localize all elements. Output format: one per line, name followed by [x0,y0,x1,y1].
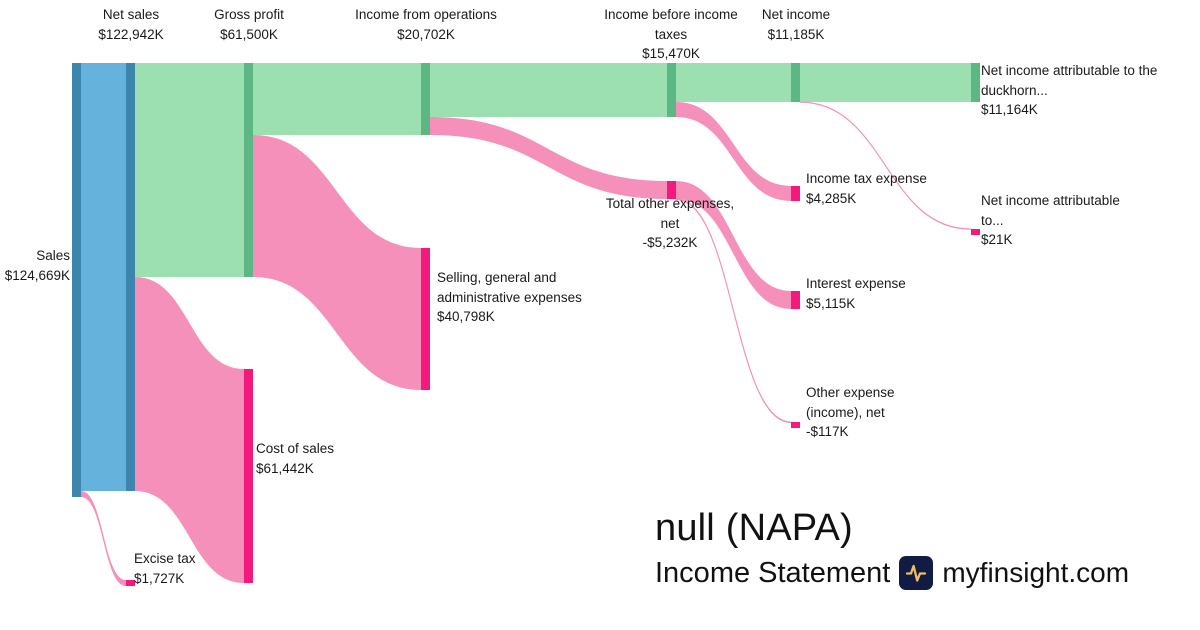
brand-name: myfinsight.com [942,556,1129,590]
chart-footer: null (NAPA) Income Statement myfinsight.… [655,505,1175,591]
sankey-node-other_expense[interactable] [791,422,800,428]
sankey-node-ni_duckhorn[interactable] [971,63,980,102]
sankey-link-gross_profit-income_from_ops [253,63,421,135]
sankey-node-interest_expense[interactable] [791,291,800,309]
sankey-node-sales[interactable] [72,63,81,497]
sankey-link-net_sales-cost_of_sales [135,277,244,583]
pulse-wave-icon [899,556,933,590]
chart-statement-subtitle: Income Statement [655,555,890,591]
sankey-node-excise_tax[interactable] [126,580,135,586]
sankey-link-ifo-total_other_expenses [430,117,667,199]
sankey-link-net_income-ni_duckhorn [800,63,971,102]
sankey-link-toe-other_expense [676,199,791,423]
sankey-node-income_tax_expense[interactable] [791,186,800,201]
sankey-link-sales-net_sales [81,63,126,491]
sankey-link-sales-excise_tax [81,491,126,586]
sankey-link-ibt-net_income [676,63,791,102]
sankey-node-total_other_expenses[interactable] [667,181,676,199]
sankey-link-net_sales-gross_profit [135,63,244,277]
sankey-node-net_income[interactable] [791,63,800,102]
sankey-node-income_from_operations[interactable] [421,63,430,135]
chart-footer-row: Income Statement myfinsight.com [655,555,1175,591]
sankey-link-gross_profit-sga [253,135,421,390]
sankey-node-net_sales[interactable] [126,63,135,491]
sankey-node-ni_attributable_to[interactable] [971,229,980,235]
sankey-node-gross_profit[interactable] [244,63,253,277]
chart-company-title: null (NAPA) [655,505,1175,551]
sankey-node-sga[interactable] [421,248,430,390]
sankey-node-cost_of_sales[interactable] [244,369,253,583]
sankey-link-ifo-income_before_taxes [430,63,667,117]
sankey-node-income_before_taxes[interactable] [667,63,676,117]
sankey-link-net_income-ni_attributable_to [800,102,971,229]
sankey-link-toe-interest_expense [676,181,791,309]
sankey-chart-stage: Sales $124,669K Net sales $122,942K Gros… [0,0,1200,630]
